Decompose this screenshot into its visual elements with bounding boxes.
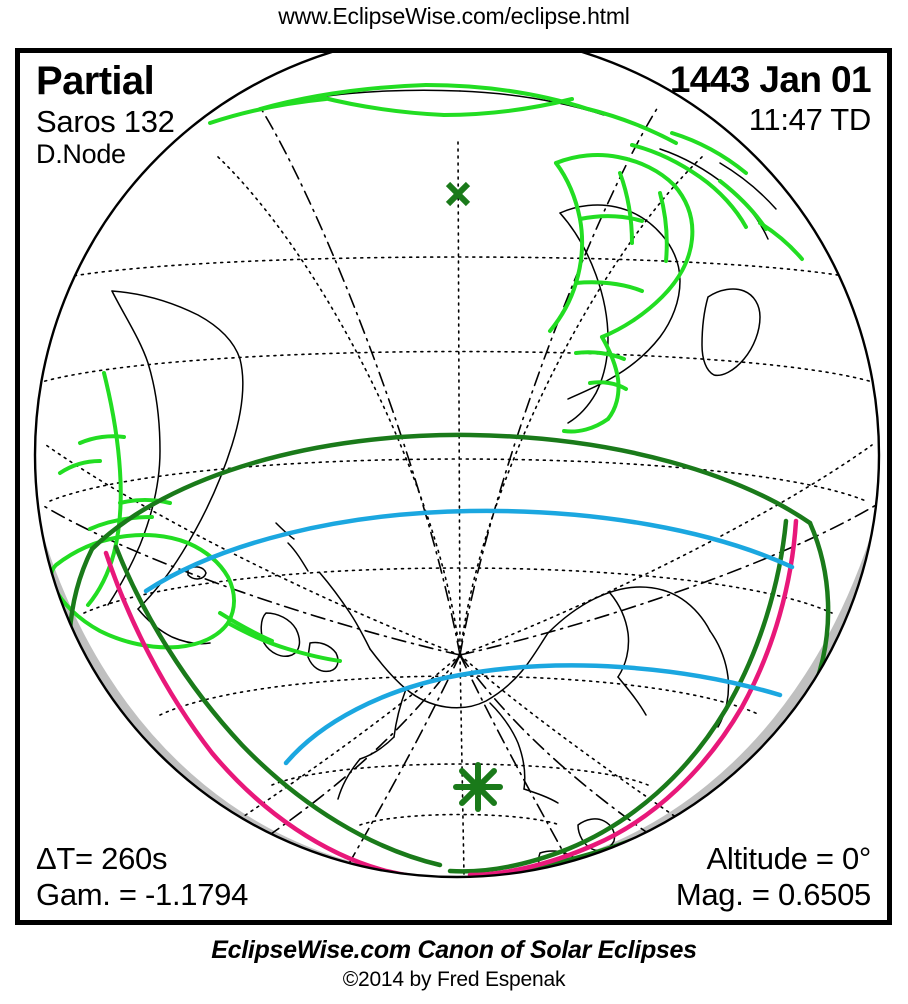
eclipse-time-label: 11:47 TD xyxy=(670,104,871,135)
eclipse-type-label: Partial xyxy=(36,61,175,101)
node-label: D.Node xyxy=(36,141,175,168)
globe-graphic xyxy=(20,53,887,920)
eclipse-date-label: 1443 Jan 01 xyxy=(670,61,871,98)
delta-t-label: ΔT= 260s xyxy=(36,843,248,874)
map-frame: Partial Saros 132 D.Node 1443 Jan 01 11:… xyxy=(15,48,892,925)
gamma-label: Gam. = -1.1794 xyxy=(36,879,248,910)
altitude-label: Altitude = 0° xyxy=(676,843,871,874)
copyright-text: ©2014 by Fred Espenak xyxy=(0,968,908,992)
eclipse-stats-bottom-right: Altitude = 0° Mag. = 0.6505 xyxy=(676,843,871,910)
saros-label: Saros 132 xyxy=(36,106,175,137)
site-url-text: www.EclipseWise.com/eclipse.html xyxy=(0,3,908,30)
canon-title-text: EclipseWise.com Canon of Solar Eclipses xyxy=(0,936,908,965)
eclipse-info-top-right: 1443 Jan 01 11:47 TD xyxy=(670,61,871,135)
eclipse-info-top-left: Partial Saros 132 D.Node xyxy=(36,61,175,168)
eclipse-stats-bottom-left: ΔT= 260s Gam. = -1.1794 xyxy=(36,843,248,910)
greatest-eclipse-star-icon xyxy=(456,765,500,809)
magnitude-label: Mag. = 0.6505 xyxy=(676,879,871,910)
eclipse-map-page: www.EclipseWise.com/eclipse.html xyxy=(0,0,908,1004)
